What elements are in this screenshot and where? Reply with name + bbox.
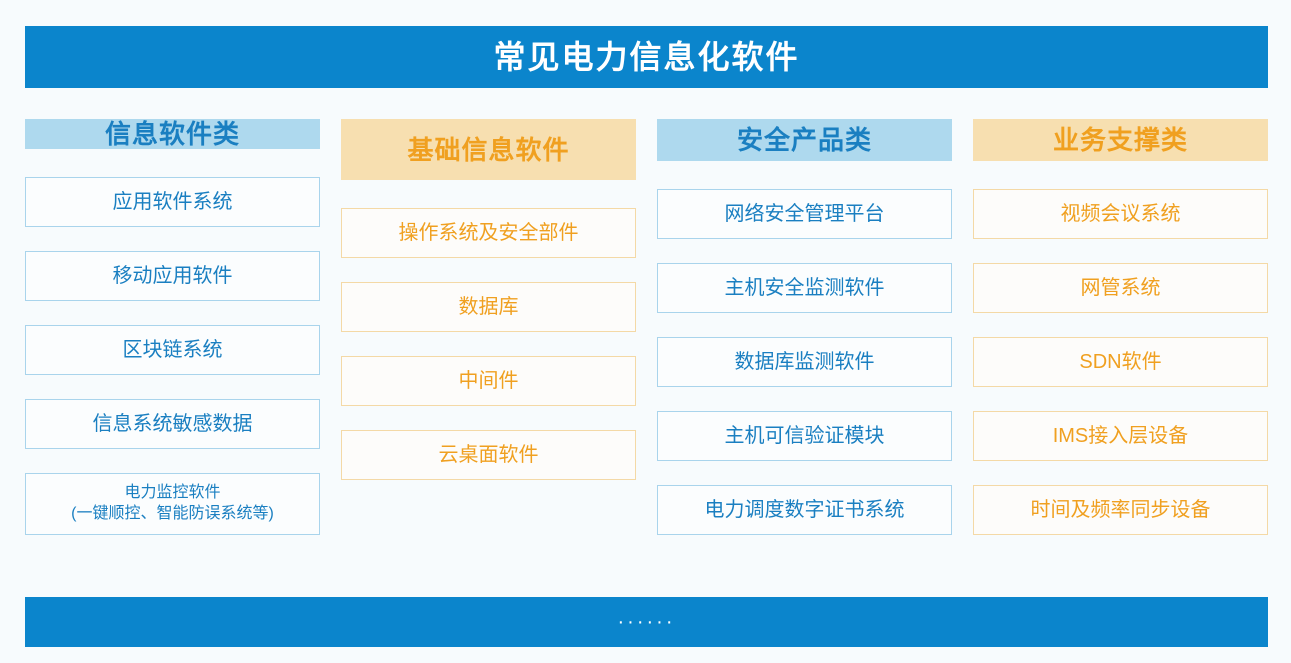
- column-header-label: 信息软件类: [105, 121, 240, 147]
- software-item[interactable]: 数据库监测软件: [657, 337, 952, 387]
- category-column-4: 业务支撑类视频会议系统网管系统SDN软件IMS接入层设备时间及频率同步设备: [973, 119, 1268, 559]
- column-header-3[interactable]: 安全产品类: [657, 119, 952, 161]
- software-item[interactable]: 信息系统敏感数据: [25, 399, 320, 449]
- software-item-label: 数据库: [459, 296, 519, 319]
- column-header-label: 安全产品类: [737, 127, 872, 153]
- software-item[interactable]: 区块链系统: [25, 325, 320, 375]
- software-item-label: 电力调度数字证书系统: [705, 499, 905, 522]
- software-item[interactable]: 网络安全管理平台: [657, 189, 952, 239]
- column-header-4[interactable]: 业务支撑类: [973, 119, 1268, 161]
- category-column-2: 基础信息软件操作系统及安全部件数据库中间件云桌面软件: [341, 119, 636, 559]
- software-item-label: 电力监控软件: [124, 483, 220, 504]
- software-item-sublabel: (一键顺控、智能防误系统等): [71, 504, 274, 525]
- software-item[interactable]: 移动应用软件: [25, 251, 320, 301]
- software-item-label: 区块链系统: [123, 339, 223, 362]
- software-item[interactable]: 应用软件系统: [25, 177, 320, 227]
- software-item[interactable]: 主机安全监测软件: [657, 263, 952, 313]
- page-title: 常见电力信息化软件: [493, 41, 799, 73]
- column-item-list-2: 操作系统及安全部件数据库中间件云桌面软件: [341, 208, 636, 504]
- software-item[interactable]: SDN软件: [973, 337, 1268, 387]
- column-header-label: 基础信息软件: [407, 137, 569, 163]
- software-item-label: 视频会议系统: [1061, 203, 1181, 226]
- column-item-list-1: 应用软件系统移动应用软件区块链系统信息系统敏感数据电力监控软件(一键顺控、智能防…: [25, 177, 320, 559]
- software-item[interactable]: 主机可信验证模块: [657, 411, 952, 461]
- software-item-label: 移动应用软件: [113, 265, 233, 288]
- software-item-label: 应用软件系统: [113, 191, 233, 214]
- software-item-label: 网络安全管理平台: [725, 203, 885, 226]
- software-item-label: 主机安全监测软件: [725, 277, 885, 300]
- diagram-title-bar: 常见电力信息化软件: [25, 26, 1268, 88]
- category-column-3: 安全产品类网络安全管理平台主机安全监测软件数据库监测软件主机可信验证模块电力调度…: [657, 119, 952, 559]
- software-item-label: 时间及频率同步设备: [1031, 499, 1211, 522]
- software-item[interactable]: 电力监控软件(一键顺控、智能防误系统等): [25, 473, 320, 535]
- software-item[interactable]: IMS接入层设备: [973, 411, 1268, 461]
- column-item-list-3: 网络安全管理平台主机安全监测软件数据库监测软件主机可信验证模块电力调度数字证书系…: [657, 189, 952, 559]
- software-item-label: 操作系统及安全部件: [399, 222, 579, 245]
- software-item-label: 主机可信验证模块: [725, 425, 885, 448]
- footer-ellipsis: ······: [618, 612, 676, 632]
- software-item[interactable]: 时间及频率同步设备: [973, 485, 1268, 535]
- diagram-footer-bar: ······: [25, 597, 1268, 647]
- software-item[interactable]: 云桌面软件: [341, 430, 636, 480]
- software-item-label: 云桌面软件: [439, 444, 539, 467]
- software-item[interactable]: 电力调度数字证书系统: [657, 485, 952, 535]
- software-item-label: 中间件: [459, 370, 519, 393]
- software-item[interactable]: 中间件: [341, 356, 636, 406]
- column-item-list-4: 视频会议系统网管系统SDN软件IMS接入层设备时间及频率同步设备: [973, 189, 1268, 559]
- diagram-root: 常见电力信息化软件 信息软件类应用软件系统移动应用软件区块链系统信息系统敏感数据…: [0, 0, 1291, 663]
- software-item[interactable]: 网管系统: [973, 263, 1268, 313]
- software-item-label: 信息系统敏感数据: [93, 413, 253, 436]
- software-item[interactable]: 操作系统及安全部件: [341, 208, 636, 258]
- column-header-label: 业务支撑类: [1053, 127, 1188, 153]
- column-header-2[interactable]: 基础信息软件: [341, 119, 636, 180]
- software-item-label: SDN软件: [1079, 351, 1161, 374]
- software-item-label: IMS接入层设备: [1053, 425, 1189, 448]
- software-item-label: 网管系统: [1081, 277, 1161, 300]
- category-columns: 信息软件类应用软件系统移动应用软件区块链系统信息系统敏感数据电力监控软件(一键顺…: [25, 119, 1268, 559]
- software-item[interactable]: 视频会议系统: [973, 189, 1268, 239]
- software-item-label: 数据库监测软件: [735, 351, 875, 374]
- software-item[interactable]: 数据库: [341, 282, 636, 332]
- column-header-1[interactable]: 信息软件类: [25, 119, 320, 149]
- category-column-1: 信息软件类应用软件系统移动应用软件区块链系统信息系统敏感数据电力监控软件(一键顺…: [25, 119, 320, 559]
